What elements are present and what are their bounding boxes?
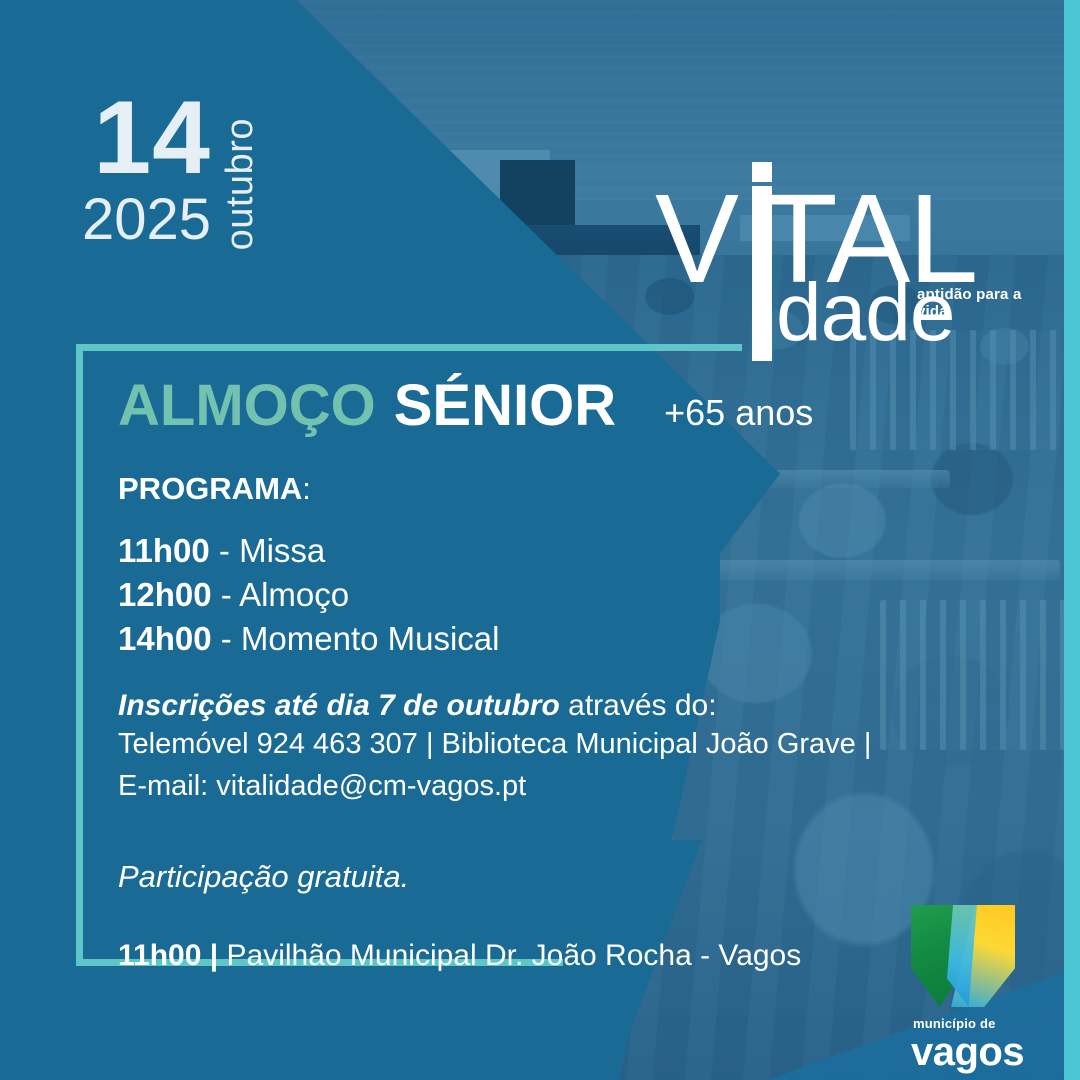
program-item: 12h00 - Almoço	[118, 573, 948, 617]
logo-tagline: aptidão para a vida	[917, 286, 1055, 320]
program-list: 11h00 - Missa 12h00 - Almoço 14h00 - Mom…	[118, 529, 948, 661]
title-secondary: SÉNIOR	[394, 372, 616, 439]
title-primary: ALMOÇO	[118, 372, 376, 439]
logo-i-stem	[752, 186, 772, 361]
program-item-time: 14h00	[118, 620, 212, 657]
date-month: outubro	[219, 118, 262, 250]
event-date: 14 2025 outubro	[82, 96, 262, 250]
venue-time: 11h00	[118, 939, 201, 972]
program-heading-text: PROGRAMA	[118, 471, 302, 506]
venue-place: Pavilhão Municipal Dr. João Rocha - Vago…	[227, 939, 802, 972]
program-item-time: 12h00	[118, 576, 212, 613]
signup-block: Inscrições até dia 7 de outubro através …	[118, 689, 948, 808]
signup-deadline: Inscrições até dia 7 de outubro através …	[118, 689, 948, 723]
frame-border-top	[76, 344, 742, 351]
program-item-separator: -	[212, 620, 241, 657]
poster-canvas: 14 2025 outubro ViTAL dade aptidão para …	[0, 0, 1080, 1080]
vagos-v-mark-icon	[911, 905, 1015, 1007]
vagos-municipality-logo: município de vagos	[905, 905, 1025, 1072]
vitalidade-logo: ViTAL dade aptidão para a vida	[655, 176, 1055, 361]
date-day: 14	[93, 96, 211, 181]
signup-deadline-bold: Inscrições até dia 7 de outubro	[118, 689, 560, 722]
content-block: ALMOÇO SÉNIOR +65 anos PROGRAMA: 11h00 -…	[118, 372, 948, 973]
logo-i-dot	[752, 162, 772, 182]
logo-letter-v: V	[655, 168, 735, 309]
program-heading: PROGRAMA:	[118, 471, 948, 507]
program-item-time: 11h00	[118, 532, 210, 569]
date-year: 2025	[82, 191, 211, 249]
program-item-separator: -	[210, 532, 239, 569]
program-heading-colon: :	[302, 471, 311, 506]
signup-email-line: E-mail: vitalidade@cm-vagos.pt	[118, 765, 948, 807]
program-item-activity: Momento Musical	[241, 620, 500, 657]
venue-separator: |	[201, 939, 226, 972]
right-edge-stripe	[1064, 0, 1080, 1080]
program-item-activity: Almoço	[239, 576, 349, 613]
program-item: 14h00 - Momento Musical	[118, 617, 948, 661]
date-numbers: 14 2025	[82, 96, 211, 249]
program-item-activity: Missa	[239, 532, 325, 569]
venue-line: 11h00 | Pavilhão Municipal Dr. João Roch…	[118, 939, 948, 973]
free-participation-note: Participação gratuita.	[118, 859, 948, 895]
event-title: ALMOÇO SÉNIOR +65 anos	[118, 372, 948, 439]
vagos-logo-prefix: município de	[913, 1016, 1025, 1031]
signup-phone-line: Telemóvel 924 463 307 | Biblioteca Munic…	[118, 723, 948, 765]
program-item-separator: -	[212, 576, 240, 613]
signup-deadline-rest: através do:	[560, 689, 717, 722]
program-item: 11h00 - Missa	[118, 529, 948, 573]
frame-border-left	[76, 344, 83, 966]
title-age-badge: +65 anos	[664, 392, 813, 434]
vagos-logo-name: vagos	[911, 1032, 1025, 1072]
